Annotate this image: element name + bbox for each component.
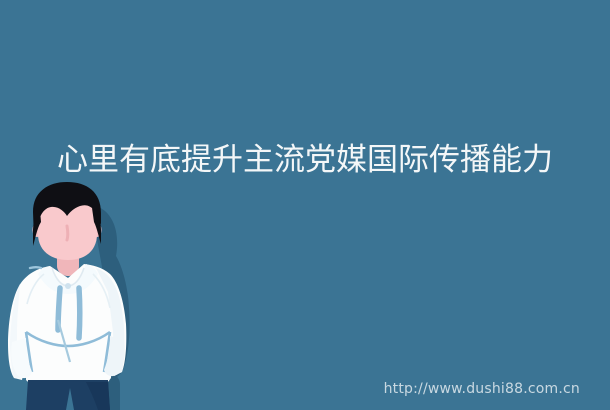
sleeve-fold-left (30, 267, 41, 268)
person-illustration-svg (0, 182, 140, 410)
watermark-url: http://www.dushi88.com.cn (384, 381, 580, 397)
person-illustration (0, 182, 140, 410)
page-title: 心里有底提升主流党媒国际传播能力 (0, 138, 610, 182)
nose (67, 226, 68, 240)
promo-banner: 心里有底提升主流党媒国际传播能力 http://www.dushi88.com.… (0, 0, 610, 410)
drawstring-right (79, 288, 80, 338)
drawstring-grommet (65, 283, 71, 289)
